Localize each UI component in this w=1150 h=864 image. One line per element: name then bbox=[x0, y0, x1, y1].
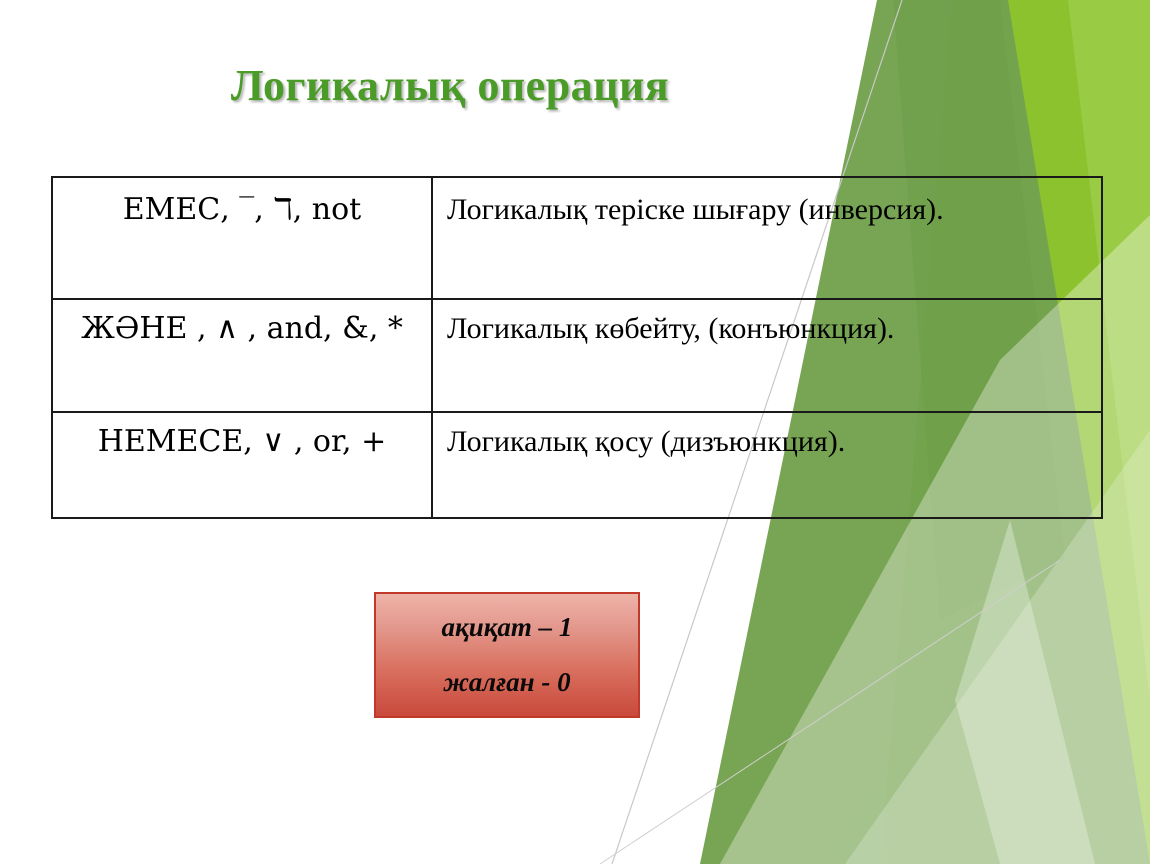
slide-canvas: Логикалық операция ЕМЕС, ‾, ℸ, not Логик… bbox=[0, 0, 1150, 864]
truth-value-false: жалған - 0 bbox=[443, 669, 570, 696]
operation-description: Логикалық көбейту, (конъюнкция). bbox=[433, 313, 1101, 345]
table-row: НЕМЕСЕ, ∨ , or, + Логикалық қосу (дизъюн… bbox=[52, 412, 1102, 518]
operation-description: Логикалық қосу (дизъюнкция). bbox=[433, 426, 1101, 458]
table-cell-description: Логикалық қосу (дизъюнкция). bbox=[432, 412, 1102, 518]
table-cell-description: Логикалық теріске шығару (инверсия). bbox=[432, 177, 1102, 299]
table-cell-description: Логикалық көбейту, (конъюнкция). bbox=[432, 299, 1102, 412]
table-row: ЖӘНЕ , ∧ , and, &, * Логикалық көбейту, … bbox=[52, 299, 1102, 412]
decor-polygon-pale-left bbox=[1005, 520, 1150, 864]
cell-content: ЖӘНЕ , ∧ , and, &, * bbox=[53, 300, 431, 345]
operation-symbols: НЕМЕСЕ, ∨ , or, + bbox=[53, 426, 431, 458]
operation-description: Логикалық теріске шығару (инверсия). bbox=[433, 194, 1101, 226]
table-cell-operation: ЕМЕС, ‾, ℸ, not bbox=[52, 177, 432, 299]
operation-symbols: ЕМЕС, ‾, ℸ, not bbox=[53, 194, 431, 226]
page-title: Логикалық операция bbox=[0, 62, 900, 110]
logic-operations-table: ЕМЕС, ‾, ℸ, not Логикалық теріске шығару… bbox=[51, 176, 1103, 519]
decor-hairline-cross bbox=[600, 560, 1060, 864]
operation-symbols: ЖӘНЕ , ∧ , and, &, * bbox=[53, 313, 431, 345]
table-row: ЕМЕС, ‾, ℸ, not Логикалық теріске шығару… bbox=[52, 177, 1102, 299]
cell-content: ЕМЕС, ‾, ℸ, not bbox=[53, 178, 431, 226]
truth-values-box: ақиқат – 1 жалған - 0 bbox=[374, 592, 640, 718]
cell-content: Логикалық теріске шығару (инверсия). bbox=[433, 178, 1101, 226]
decor-polygon-pale-sliver bbox=[955, 520, 1095, 864]
truth-value-true: ақиқат – 1 bbox=[442, 614, 573, 641]
cell-content: НЕМЕСЕ, ∨ , or, + bbox=[53, 413, 431, 458]
cell-content: Логикалық қосу (дизъюнкция). bbox=[433, 413, 1101, 458]
table-cell-operation: ЖӘНЕ , ∧ , and, &, * bbox=[52, 299, 432, 412]
cell-content: Логикалық көбейту, (конъюнкция). bbox=[433, 300, 1101, 345]
table-cell-operation: НЕМЕСЕ, ∨ , or, + bbox=[52, 412, 432, 518]
